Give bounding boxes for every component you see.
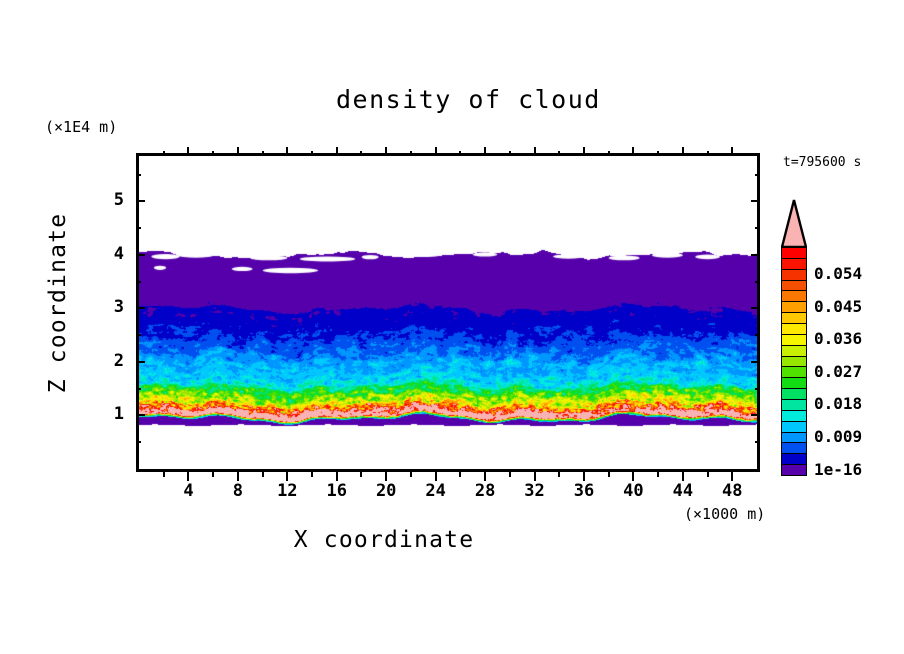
y-axis-major-tick [136, 254, 145, 256]
x-axis-major-tick [385, 472, 387, 481]
x-axis-top-major-tick [583, 147, 585, 156]
x-tick-label: 36 [564, 481, 604, 501]
x-tick-label: 16 [317, 481, 357, 501]
colorbar-tick-label: 0.054 [814, 264, 862, 283]
x-axis-top-major-tick [682, 147, 684, 156]
x-axis-major-tick [336, 472, 338, 481]
y-axis-title: Z coordinate [45, 193, 71, 413]
x-axis-major-tick [484, 472, 486, 481]
y-axis-right-minor-tick [755, 174, 760, 176]
x-axis-major-tick [534, 472, 536, 481]
y-axis-right-minor-tick [755, 334, 760, 336]
x-tick-label: 28 [465, 481, 505, 501]
y-axis-major-tick [136, 414, 145, 416]
x-axis-top-major-tick [484, 147, 486, 156]
y-axis-major-tick [136, 200, 145, 202]
x-unit-label: (×1000 m) [684, 505, 765, 523]
y-tick-label: 4 [92, 244, 124, 264]
y-tick-label: 3 [92, 297, 124, 317]
x-axis-top-minor-tick [608, 151, 610, 156]
x-axis-top-major-tick [385, 147, 387, 156]
x-axis-minor-tick [707, 472, 709, 477]
x-axis-top-minor-tick [410, 151, 412, 156]
x-axis-major-tick [237, 472, 239, 481]
x-tick-label: 44 [663, 481, 703, 501]
colorbar-tick-label: 0.018 [814, 394, 862, 413]
x-axis-top-minor-tick [262, 151, 264, 156]
y-axis-major-tick [136, 307, 145, 309]
colorbar-tick-label: 1e-16 [814, 460, 862, 479]
y-axis-minor-tick [136, 281, 141, 283]
y-axis-major-tick [136, 361, 145, 363]
y-axis-minor-tick [136, 334, 141, 336]
x-axis-top-major-tick [187, 147, 189, 156]
x-axis-top-major-tick [336, 147, 338, 156]
x-axis-top-minor-tick [509, 151, 511, 156]
x-tick-label: 12 [267, 481, 307, 501]
colorbar-tick-label: 0.027 [814, 362, 862, 381]
x-axis-major-tick [682, 472, 684, 481]
plot-area [139, 156, 757, 469]
colorbar [781, 247, 807, 475]
colorbar-tick-label: 0.009 [814, 427, 862, 446]
y-axis-right-minor-tick [755, 227, 760, 229]
x-tick-label: 4 [168, 481, 208, 501]
plot-frame [136, 153, 760, 472]
y-tick-label: 2 [92, 351, 124, 371]
x-tick-label: 32 [515, 481, 555, 501]
x-axis-top-minor-tick [311, 151, 313, 156]
x-axis-top-major-tick [632, 147, 634, 156]
x-axis-top-minor-tick [558, 151, 560, 156]
y-axis-right-major-tick [751, 414, 760, 416]
x-axis-top-minor-tick [163, 151, 165, 156]
x-tick-label: 20 [366, 481, 406, 501]
y-axis-right-major-tick [751, 200, 760, 202]
x-axis-top-major-tick [731, 147, 733, 156]
y-axis-right-major-tick [751, 307, 760, 309]
x-axis-major-tick [286, 472, 288, 481]
colorbar-band [781, 464, 807, 476]
x-axis-minor-tick [163, 472, 165, 477]
y-axis-minor-tick [136, 227, 141, 229]
figure-canvas: density of cloud (×1E4 m) (×1000 m) t=79… [0, 0, 904, 654]
x-axis-top-minor-tick [459, 151, 461, 156]
x-tick-label: 24 [416, 481, 456, 501]
x-tick-label: 48 [712, 481, 752, 501]
x-axis-minor-tick [608, 472, 610, 477]
page-title: density of cloud [336, 85, 601, 114]
colorbar-tick-label: 0.045 [814, 297, 862, 316]
y-axis-right-major-tick [751, 361, 760, 363]
x-axis-top-major-tick [534, 147, 536, 156]
x-axis-top-major-tick [435, 147, 437, 156]
density-heatmap [139, 156, 757, 469]
y-tick-label: 5 [92, 190, 124, 210]
x-axis-minor-tick [657, 472, 659, 477]
x-axis-minor-tick [509, 472, 511, 477]
x-axis-major-tick [435, 472, 437, 481]
y-axis-minor-tick [136, 174, 141, 176]
colorbar-tick-label: 0.036 [814, 329, 862, 348]
x-axis-minor-tick [558, 472, 560, 477]
timestamp-label: t=795600 s [783, 155, 861, 170]
x-axis-top-major-tick [286, 147, 288, 156]
y-axis-right-major-tick [751, 254, 760, 256]
x-axis-top-minor-tick [212, 151, 214, 156]
x-tick-label: 8 [218, 481, 258, 501]
z-unit-label: (×1E4 m) [45, 118, 117, 136]
x-axis-top-minor-tick [657, 151, 659, 156]
x-axis-top-minor-tick [707, 151, 709, 156]
x-axis-minor-tick [410, 472, 412, 477]
x-axis-minor-tick [262, 472, 264, 477]
x-axis-major-tick [583, 472, 585, 481]
colorbar-arrow-icon [781, 199, 807, 248]
colorbar-overflow-arrow [781, 199, 807, 248]
x-tick-label: 40 [613, 481, 653, 501]
x-axis-minor-tick [311, 472, 313, 477]
x-axis-major-tick [632, 472, 634, 481]
x-axis-major-tick [731, 472, 733, 481]
x-axis-major-tick [187, 472, 189, 481]
y-tick-label: 1 [92, 404, 124, 424]
y-axis-minor-tick [136, 388, 141, 390]
x-axis-top-minor-tick [360, 151, 362, 156]
x-axis-minor-tick [212, 472, 214, 477]
x-axis-minor-tick [459, 472, 461, 477]
x-axis-top-major-tick [237, 147, 239, 156]
x-axis-title: X coordinate [0, 527, 768, 553]
y-axis-right-minor-tick [755, 388, 760, 390]
y-axis-right-minor-tick [755, 281, 760, 283]
y-axis-minor-tick [136, 441, 141, 443]
x-axis-minor-tick [360, 472, 362, 477]
y-axis-right-minor-tick [755, 441, 760, 443]
